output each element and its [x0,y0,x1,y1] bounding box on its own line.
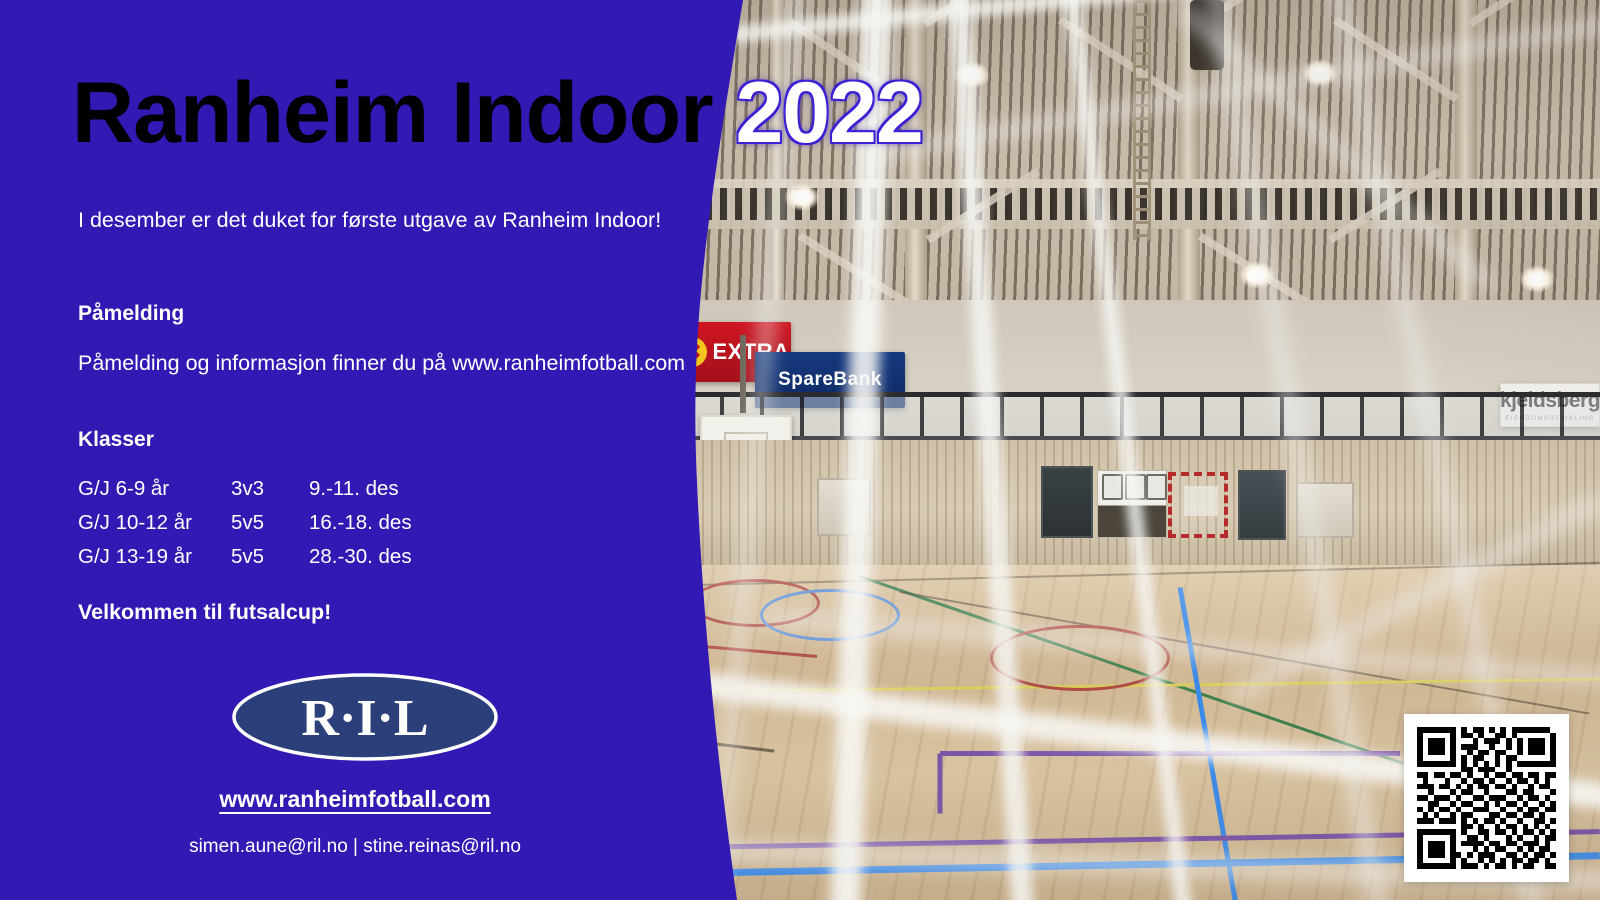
website-link[interactable]: www.ranheimfotball.com [0,786,710,813]
class-dates: 9.-11. des [309,472,449,506]
class-format: 3v3 [231,472,309,506]
contact-emails: simen.aune@ril.no | stine.reinas@ril.no [0,836,710,858]
poster-root: ✖ EXTRA SpareBank kjeldsberg EIENDOMSUTV… [0,0,1600,900]
intro-text: I desember er det duket for første utgav… [78,205,661,236]
pamelding-paragraph: Påmelding og informasjon finner du på ww… [78,348,685,379]
page-title: Ranheim Indoor 2022 [72,70,923,156]
title-main: Ranheim Indoor [72,65,735,161]
class-dates: 28.-30. des [309,540,449,574]
class-age: G/J 10-12 år [78,506,231,540]
class-dates: 16.-18. des [309,506,449,540]
class-age: G/J 6-9 år [78,472,231,506]
class-age: G/J 13-19 år [78,540,231,574]
qr-code[interactable] [1404,714,1569,882]
class-format: 5v5 [231,540,309,574]
heading-pamelding: Påmelding [78,302,184,326]
class-format: 5v5 [231,506,309,540]
qr-code-matrix [1417,727,1556,869]
classes-table: G/J 6-9 år 3v3 9.-11. des G/J 10-12 år 5… [78,472,449,574]
title-year: 2022 [735,65,922,161]
table-row: G/J 6-9 år 3v3 9.-11. des [78,472,449,506]
heading-klasser: Klasser [78,428,154,452]
ril-logo-text: R·I·L [301,690,428,747]
ril-logo: R·I·L [229,670,501,764]
table-row: G/J 10-12 år 5v5 16.-18. des [78,506,449,540]
table-row: G/J 13-19 år 5v5 28.-30. des [78,540,449,574]
welcome-text: Velkommen til futsalcup! [78,600,331,625]
